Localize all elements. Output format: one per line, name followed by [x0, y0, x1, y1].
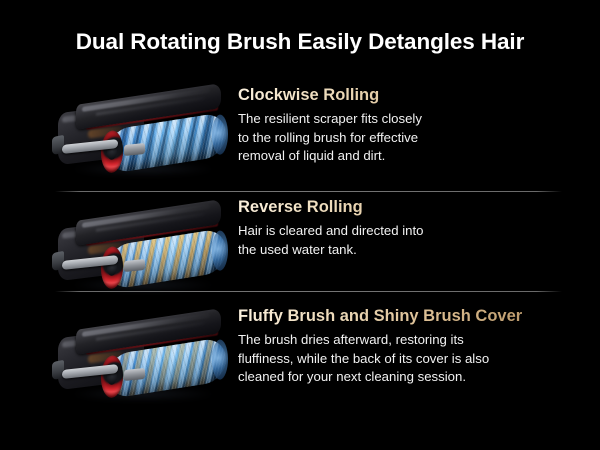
- feature-body-line: fluffiness, while the back of its cover …: [238, 350, 600, 369]
- feature-heading: Clockwise Rolling: [238, 86, 600, 104]
- feature-body-line: The resilient scraper fits closely: [238, 110, 600, 129]
- product-image-fluffy-brush: [48, 313, 233, 413]
- nozzle-tab: [124, 259, 145, 272]
- feature-body: The resilient scraper fits closely to th…: [238, 110, 600, 166]
- product-image-reverse-rolling: [48, 204, 233, 304]
- nozzle-tab: [124, 143, 145, 156]
- feature-body-line: removal of liquid and dirt.: [238, 147, 600, 166]
- feature-text-block: Fluffy Brush and Shiny Brush Cover The b…: [238, 305, 600, 387]
- section-divider: [55, 191, 562, 192]
- vacuum-head-illustration: [48, 204, 233, 304]
- feature-body: The brush dries afterward, restoring its…: [238, 331, 600, 387]
- roller-right-end: [212, 113, 229, 155]
- feature-heading: Fluffy Brush and Shiny Brush Cover: [238, 307, 600, 325]
- roller-right-end: [212, 338, 229, 380]
- vacuum-head-illustration: [48, 313, 233, 413]
- feature-row: Fluffy Brush and Shiny Brush Cover The b…: [0, 305, 600, 410]
- section-divider: [55, 291, 562, 292]
- nozzle-tab: [124, 368, 145, 381]
- feature-body-line: the used water tank.: [238, 241, 600, 260]
- product-image-clockwise-rolling: [48, 88, 233, 188]
- feature-body-line: Hair is cleared and directed into: [238, 222, 600, 241]
- feature-row: Clockwise Rolling The resilient scraper …: [0, 84, 600, 189]
- feature-body: Hair is cleared and directed into the us…: [238, 222, 600, 259]
- vacuum-head-illustration: [48, 88, 233, 188]
- page-title: Dual Rotating Brush Easily Detangles Hai…: [0, 29, 600, 55]
- feature-body-line: cleaned for your next cleaning session.: [238, 368, 600, 387]
- feature-text-block: Reverse Rolling Hair is cleared and dire…: [238, 196, 600, 259]
- feature-body-line: to the rolling brush for effective: [238, 129, 600, 148]
- feature-text-block: Clockwise Rolling The resilient scraper …: [238, 84, 600, 166]
- feature-heading: Reverse Rolling: [238, 198, 600, 216]
- roller-right-end: [212, 229, 229, 271]
- feature-row: Reverse Rolling Hair is cleared and dire…: [0, 196, 600, 288]
- feature-body-line: The brush dries afterward, restoring its: [238, 331, 600, 350]
